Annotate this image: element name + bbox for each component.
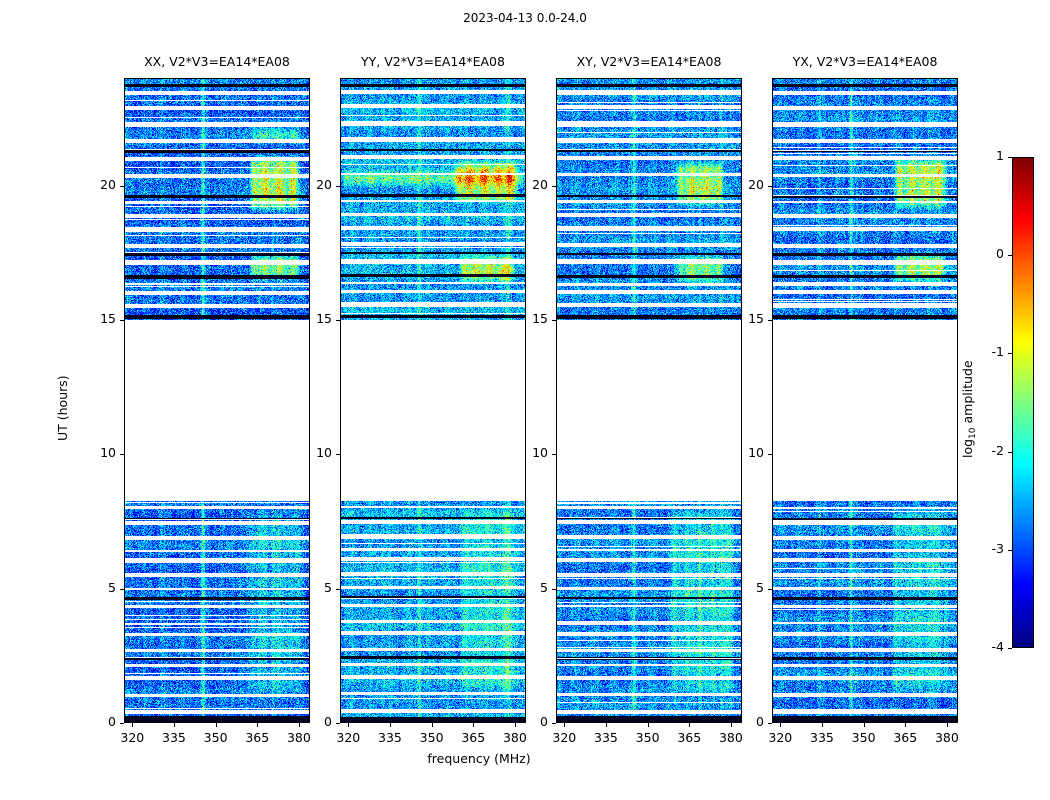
colorbar-tick-label: 1 (966, 148, 1004, 163)
panel-title-yx: YX, V2*V3=EA14*EA08 (732, 54, 998, 69)
y-tick-mark (768, 320, 772, 321)
x-tick-mark (257, 723, 258, 727)
y-tick-mark (120, 186, 124, 187)
y-tick-label: 10 (296, 445, 332, 460)
colorbar-label-main: log (960, 438, 975, 457)
x-tick-mark (216, 723, 217, 727)
y-tick-mark (768, 723, 772, 724)
colorbar-tick-label: -4 (966, 639, 1004, 654)
colorbar-tick-mark (1008, 255, 1012, 256)
x-tick-mark (432, 723, 433, 727)
x-tick-mark (390, 723, 391, 727)
y-tick-mark (336, 589, 340, 590)
x-tick-label: 380 (706, 730, 756, 745)
spectrum-image-xx (125, 79, 309, 722)
colorbar-tick-label: 0 (966, 246, 1004, 261)
x-tick-mark (648, 723, 649, 727)
y-tick-mark (120, 320, 124, 321)
colorbar-label-subscript: 10 (968, 427, 978, 438)
colorbar-label: log10 amplitude (960, 360, 975, 458)
x-tick-label: 380 (274, 730, 324, 745)
y-tick-label: 0 (296, 714, 332, 729)
y-tick-mark (120, 589, 124, 590)
x-tick-mark (174, 723, 175, 727)
y-tick-label: 5 (728, 580, 764, 595)
x-tick-mark (132, 723, 133, 727)
colorbar-label-tail: amplitude (960, 360, 975, 427)
y-tick-mark (336, 320, 340, 321)
spectrum-image-xy (557, 79, 741, 722)
colorbar-tick-label: -1 (966, 344, 1004, 359)
spectrum-panel-xy (556, 78, 742, 723)
spectrum-image-yy (341, 79, 525, 722)
y-tick-label: 20 (728, 177, 764, 192)
y-tick-mark (768, 454, 772, 455)
y-tick-label: 10 (512, 445, 548, 460)
y-tick-label: 5 (512, 580, 548, 595)
y-tick-mark (552, 186, 556, 187)
y-tick-mark (552, 454, 556, 455)
y-tick-label: 15 (512, 311, 548, 326)
y-tick-label: 5 (296, 580, 332, 595)
y-tick-label: 15 (296, 311, 332, 326)
y-tick-label: 0 (728, 714, 764, 729)
y-tick-mark (336, 186, 340, 187)
y-tick-mark (120, 723, 124, 724)
spectrum-panel-yy (340, 78, 526, 723)
x-tick-label: 380 (490, 730, 540, 745)
y-tick-label: 10 (80, 445, 116, 460)
y-tick-label: 15 (80, 311, 116, 326)
figure-suptitle: 2023-04-13 0.0-24.0 (0, 11, 1050, 25)
x-tick-mark (822, 723, 823, 727)
y-tick-label: 0 (80, 714, 116, 729)
y-tick-label: 0 (512, 714, 548, 729)
y-tick-label: 5 (80, 580, 116, 595)
y-tick-label: 20 (80, 177, 116, 192)
y-tick-mark (120, 454, 124, 455)
y-tick-label: 10 (728, 445, 764, 460)
colorbar-tick-mark (1008, 452, 1012, 453)
x-tick-mark (689, 723, 690, 727)
y-tick-mark (336, 723, 340, 724)
x-tick-label: 380 (922, 730, 972, 745)
colorbar-gradient (1013, 158, 1033, 647)
x-tick-mark (348, 723, 349, 727)
x-tick-mark (947, 723, 948, 727)
spectrum-panel-xx (124, 78, 310, 723)
y-tick-mark (552, 320, 556, 321)
colorbar-tick-mark (1008, 353, 1012, 354)
spectrum-image-yx (773, 79, 957, 722)
x-tick-mark (905, 723, 906, 727)
y-tick-mark (768, 589, 772, 590)
y-tick-label: 20 (512, 177, 548, 192)
x-tick-mark (780, 723, 781, 727)
colorbar (1012, 157, 1034, 648)
x-tick-mark (864, 723, 865, 727)
y-tick-mark (552, 723, 556, 724)
y-axis-label: UT (hours) (55, 375, 70, 441)
colorbar-tick-mark (1008, 550, 1012, 551)
colorbar-tick-label: -3 (966, 541, 1004, 556)
x-tick-mark (606, 723, 607, 727)
y-tick-mark (336, 454, 340, 455)
x-tick-mark (564, 723, 565, 727)
colorbar-tick-mark (1008, 648, 1012, 649)
spectrum-panel-yx (772, 78, 958, 723)
y-tick-mark (552, 589, 556, 590)
figure-canvas: 2023-04-13 0.0-24.0 XX, V2*V3=EA14*EA080… (0, 0, 1050, 800)
x-axis-label: frequency (MHz) (0, 751, 958, 766)
colorbar-tick-mark (1008, 157, 1012, 158)
y-tick-label: 20 (296, 177, 332, 192)
x-tick-mark (473, 723, 474, 727)
y-tick-label: 15 (728, 311, 764, 326)
y-tick-mark (768, 186, 772, 187)
